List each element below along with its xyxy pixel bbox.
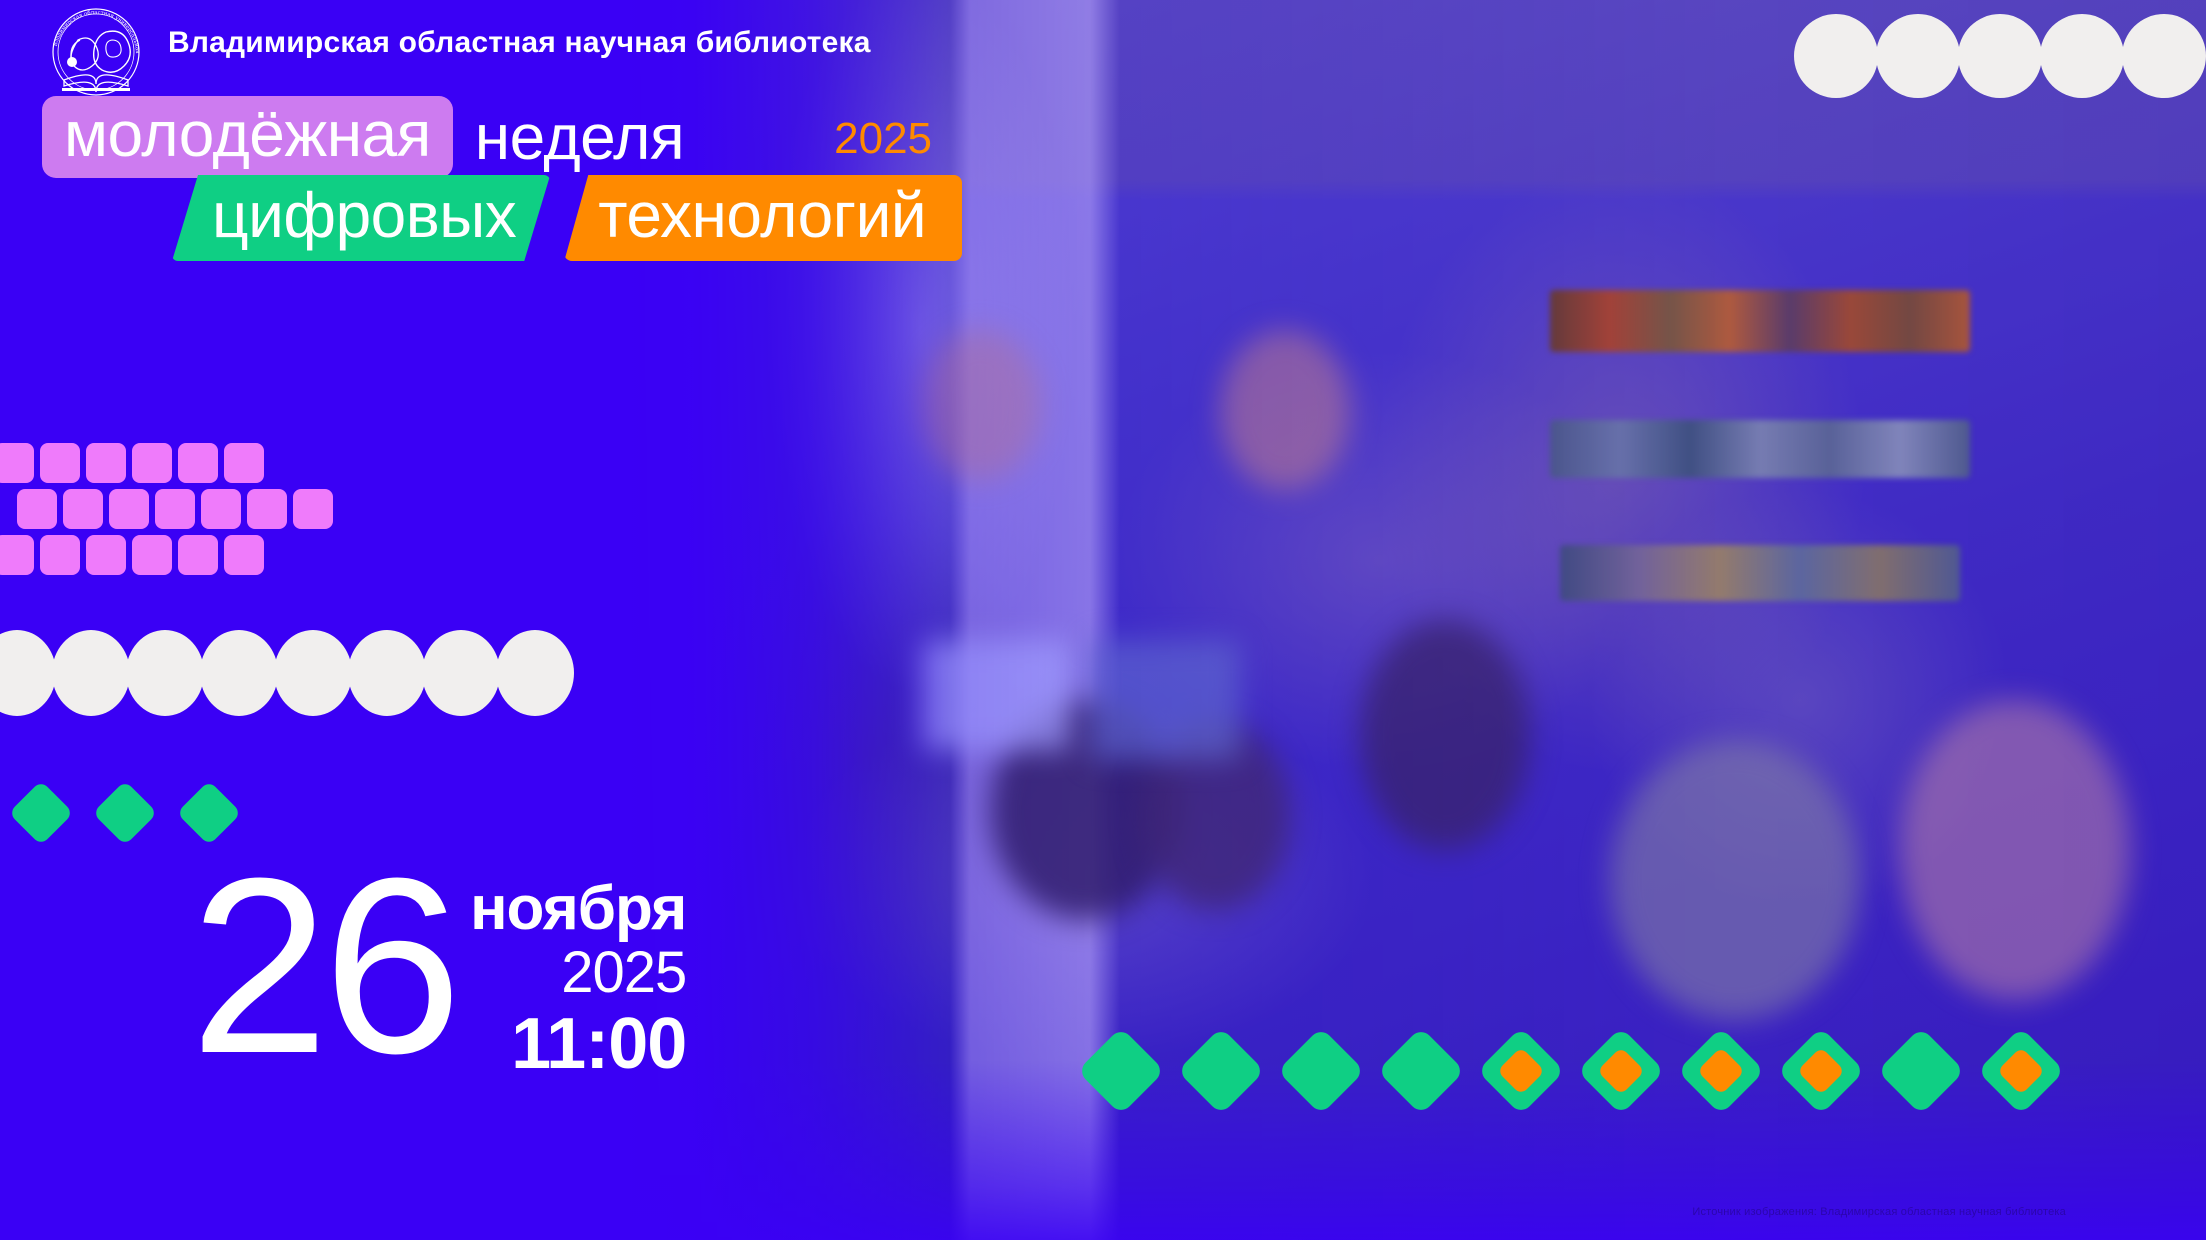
- ellipse-dot: [496, 630, 574, 716]
- decor-top-right-circles: [1796, 14, 2206, 98]
- ellipse-dot: [200, 630, 278, 716]
- checker-square: [132, 443, 172, 483]
- event-poster: Владимирская областная универсальная нау…: [0, 0, 2206, 1240]
- checker-square: [224, 443, 264, 483]
- event-month: ноября: [470, 878, 686, 940]
- ellipse-dot: [274, 630, 352, 716]
- checker-square: [178, 443, 218, 483]
- checker-square: [40, 535, 80, 575]
- ellipse-dot: [126, 630, 204, 716]
- diamond-shape: [92, 780, 157, 845]
- checker-square: [201, 489, 241, 529]
- diamond-inner-square: [1597, 1047, 1645, 1095]
- title-word-week: неделя: [475, 105, 684, 169]
- diamond-shape: [8, 780, 73, 845]
- checker-square: [247, 489, 287, 529]
- ellipse-dot: [348, 630, 426, 716]
- title-line-1: молодёжная неделя 2025: [42, 96, 932, 178]
- checker-square: [17, 489, 57, 529]
- circle-dot: [1794, 14, 1878, 98]
- checker-square: [63, 489, 103, 529]
- event-day: 26: [190, 860, 456, 1073]
- ellipse-dot: [422, 630, 500, 716]
- diamond-shape: [1377, 1027, 1465, 1115]
- diamond-shape: [1277, 1027, 1365, 1115]
- checker-square: [178, 535, 218, 575]
- title-year: 2025: [834, 117, 932, 161]
- title-word-digital: цифровых: [212, 179, 516, 251]
- decor-white-ellipses: [0, 630, 570, 716]
- event-time: 11:00: [511, 1007, 686, 1083]
- diamond-shape: [1777, 1027, 1865, 1115]
- diamond-inner-square: [1497, 1047, 1545, 1095]
- event-year: 2025: [561, 940, 686, 1007]
- footer-watermark: Источник изображения: Владимирская облас…: [1692, 1206, 2066, 1218]
- event-date-block: 26 ноября 2025 11:00: [190, 860, 686, 1082]
- checker-square: [293, 489, 333, 529]
- checker-square: [40, 443, 80, 483]
- checker-square: [0, 535, 34, 575]
- title-word-youth: молодёжная: [64, 98, 431, 170]
- title-word-technologies: технологий: [598, 179, 926, 251]
- library-emblem-icon: Владимирская областная универсальная нау…: [34, 4, 158, 108]
- ellipse-dot: [52, 630, 130, 716]
- organization-name: Владимирская областная научная библиотек…: [168, 26, 871, 60]
- title-highlight-pill: молодёжная: [42, 96, 453, 178]
- diamond-shape: [1177, 1027, 1265, 1115]
- diamond-shape: [1977, 1027, 2065, 1115]
- diamond-inner-square: [1697, 1047, 1745, 1095]
- circle-dot: [1958, 14, 2042, 98]
- diamond-shape: [1477, 1027, 1565, 1115]
- checker-square: [155, 489, 195, 529]
- circle-dot: [2040, 14, 2124, 98]
- ellipse-dot: [0, 630, 56, 716]
- event-date-details: ноября 2025 11:00: [470, 878, 686, 1082]
- checker-square: [0, 443, 34, 483]
- checker-square: [86, 535, 126, 575]
- diamond-shape: [1577, 1027, 1665, 1115]
- decor-bottom-diamonds: [1090, 1040, 2052, 1102]
- circle-dot: [2122, 14, 2206, 98]
- circle-dot: [1876, 14, 1960, 98]
- diamond-shape: [1677, 1027, 1765, 1115]
- svg-text:Владимирская областная универс: Владимирская областная универсальная нау…: [34, 4, 140, 54]
- title-tag-technologies: технологий: [564, 175, 962, 261]
- checker-square: [86, 443, 126, 483]
- diamond-inner-square: [1797, 1047, 1845, 1095]
- checker-square: [224, 535, 264, 575]
- checker-square: [132, 535, 172, 575]
- diamond-shape: [1877, 1027, 1965, 1115]
- diamond-shape: [1077, 1027, 1165, 1115]
- title-tag-digital: цифровых: [172, 175, 550, 261]
- checker-square: [109, 489, 149, 529]
- diamond-inner-square: [1997, 1047, 2045, 1095]
- title-line-2: цифровых технологий: [172, 175, 962, 261]
